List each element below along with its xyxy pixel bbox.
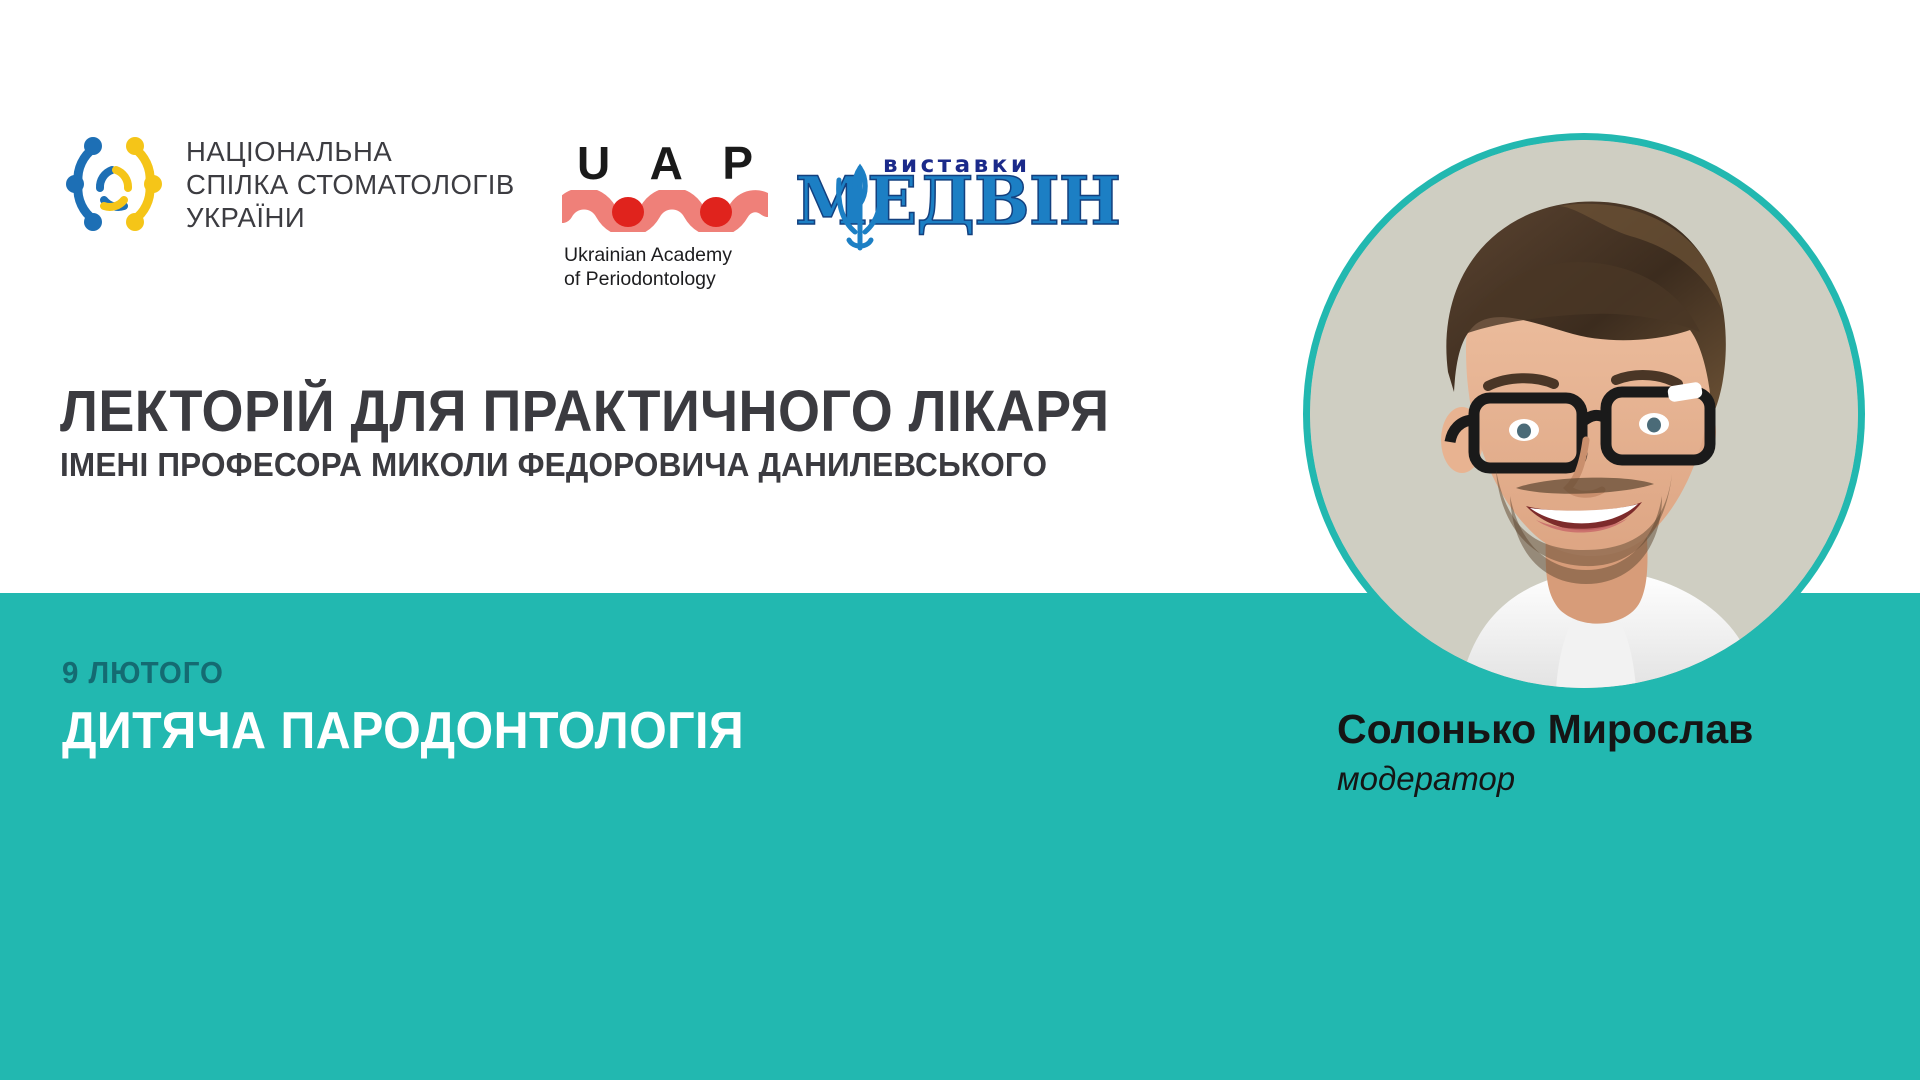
uap-subtitle: Ukrainian Academy of Periodontology <box>560 244 770 291</box>
uap-letters: U A P <box>577 140 753 186</box>
headline-block: ЛЕКТОРІЙ ДЛЯ ПРАКТИЧНОГО ЛІКАРЯ ІМЕНІ ПР… <box>60 382 1290 484</box>
uap-letter-a: A <box>650 140 683 186</box>
nssu-line-2: СПІЛКА СТОМАТОЛОГІВ <box>186 168 515 201</box>
logo-medvin-expo: МЕДВІН виставки <box>795 150 1030 260</box>
uap-subtitle-line-2: of Periodontology <box>564 268 770 292</box>
speaker-portrait <box>1310 140 1858 688</box>
nssu-wordmark: НАЦІОНАЛЬНА СПІЛКА СТОМАТОЛОГІВ УКРАЇНИ <box>186 135 515 234</box>
uap-letter-u: U <box>577 140 610 186</box>
uap-letter-p: P <box>722 140 753 186</box>
uap-gum-wave-icon <box>562 190 768 232</box>
medvin-tagline: виставки <box>883 152 1030 178</box>
nssu-emblem-icon <box>60 130 168 238</box>
event-date: 9 ЛЮТОГО <box>62 655 759 691</box>
uap-subtitle-line-1: Ukrainian Academy <box>564 244 770 268</box>
logo-national-union-of-dentists: НАЦІОНАЛЬНА СПІЛКА СТОМАТОЛОГІВ УКРАЇНИ <box>60 130 515 238</box>
poster-title: ЛЕКТОРІЙ ДЛЯ ПРАКТИЧНОГО ЛІКАРЯ <box>60 382 1204 442</box>
speaker-photo <box>1310 140 1858 688</box>
speaker-info: Солонько Мирослав модератор <box>1337 706 1753 798</box>
poster-canvas: НАЦІОНАЛЬНА СПІЛКА СТОМАТОЛОГІВ УКРАЇНИ … <box>0 0 1920 1080</box>
portrait-circle-frame <box>1310 140 1858 688</box>
speaker-name: Солонько Мирослав <box>1337 706 1753 752</box>
speaker-role: модератор <box>1337 760 1753 798</box>
event-info: 9 ЛЮТОГО ДИТЯЧА ПАРОДОНТОЛОГІЯ <box>62 655 796 759</box>
event-topic: ДИТЯЧА ПАРОДОНТОЛОГІЯ <box>62 703 744 759</box>
poster-subtitle: ІМЕНІ ПРОФЕСОРА МИКОЛИ ФЕДОРОВИЧА ДАНИЛЕ… <box>60 448 1216 484</box>
logo-row: НАЦІОНАЛЬНА СПІЛКА СТОМАТОЛОГІВ УКРАЇНИ … <box>0 0 1300 330</box>
nssu-line-1: НАЦІОНАЛЬНА <box>186 135 515 168</box>
logo-ukrainian-academy-of-periodontology: U A P Ukrainian Academy of Periodontolog… <box>560 140 770 291</box>
trident-icon <box>831 160 889 256</box>
nssu-line-3: УКРАЇНИ <box>186 201 515 234</box>
